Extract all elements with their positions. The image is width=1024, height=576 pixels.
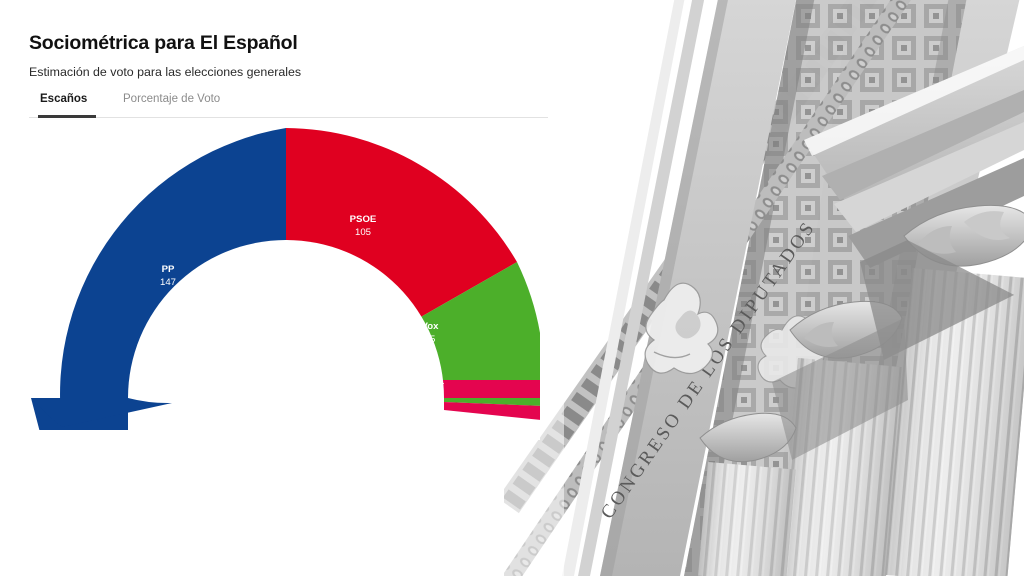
page-subtitle: Estimación de voto para las elecciones g… — [29, 65, 301, 79]
content-panel: Sociométrica para El Español Estimación … — [0, 0, 570, 576]
column-3 — [698, 413, 796, 576]
seats-donut-chart: PP 147 PSOE 105 Vox 55 Sumar 8 — [20, 110, 540, 440]
seats-chart-svg: PP 147 PSOE 105 Vox 55 Sumar 8 — [20, 110, 540, 440]
chart-ground-mask — [20, 430, 540, 440]
screenshot-root: CONGRESO DE LOS DIPUTADOS — [0, 0, 1024, 576]
chart-label-sumar-name: Sumar — [414, 380, 444, 391]
chart-label-psoe-name: PSOE — [350, 214, 377, 225]
chart-label-vox-name: Vox — [422, 321, 440, 332]
chart-label-pp-name: PP — [162, 264, 175, 275]
congress-building-illustration: CONGRESO DE LOS DIPUTADOS — [504, 0, 1024, 576]
congress-building-photo: CONGRESO DE LOS DIPUTADOS — [504, 0, 1024, 576]
tab-escanos[interactable]: Escaños — [40, 92, 87, 106]
chart-label-sumar-value: 8 — [426, 393, 431, 404]
chart-label-pp-value: 147 — [160, 277, 176, 288]
chart-label-psoe-value: 105 — [355, 227, 371, 238]
page-title: Sociométrica para El Español — [29, 32, 298, 55]
chart-label-vox-value: 55 — [425, 334, 436, 345]
tab-porcentaje-de-voto[interactable]: Porcentaje de Voto — [123, 92, 220, 106]
